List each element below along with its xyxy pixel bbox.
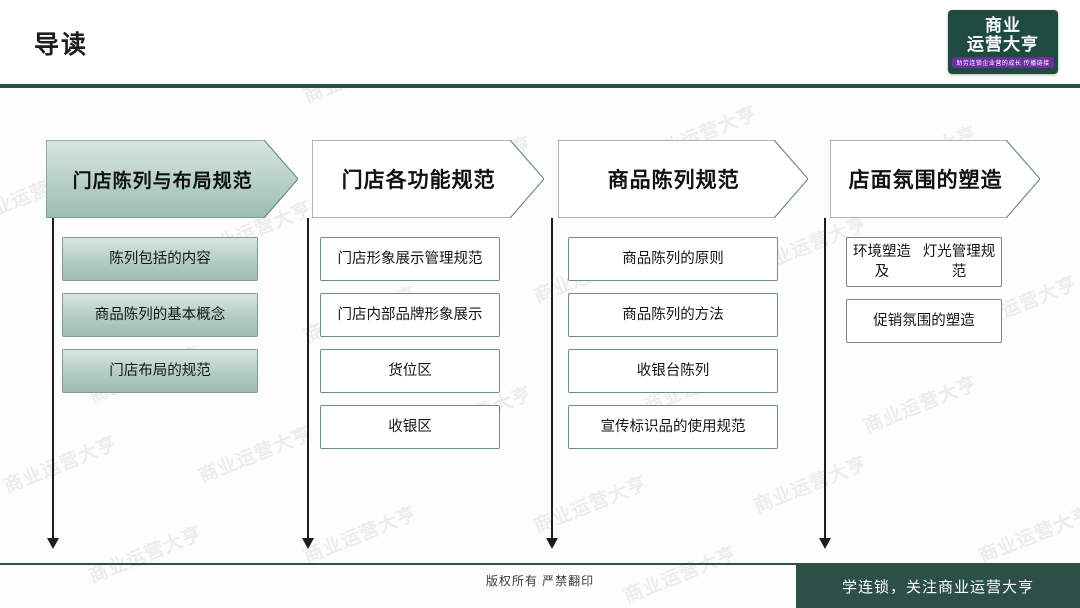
column-4-item-1[interactable]: 环境塑造及灯光管理规范 bbox=[846, 237, 1002, 287]
header-divider bbox=[0, 84, 1080, 88]
column-connector-3 bbox=[551, 218, 553, 538]
item-text-line: 陈列包括的内容 bbox=[109, 249, 211, 269]
column-1-item-3[interactable]: 门店布局的规范 bbox=[62, 349, 258, 393]
column-connector-arrow-1 bbox=[47, 538, 59, 549]
flow-column-1: 门店陈列与布局规范 bbox=[46, 140, 298, 218]
column-1-item-2[interactable]: 商品陈列的基本概念 bbox=[62, 293, 258, 337]
column-connector-2 bbox=[307, 218, 309, 538]
watermark: 商业运营大亨 bbox=[859, 369, 980, 439]
item-text-line: 商品陈列的基本概念 bbox=[95, 305, 226, 325]
slide: 商业运营大亨商业运营大亨商业运营大亨商业运营大亨商业运营大亨商业运营大亨商业运营… bbox=[0, 0, 1080, 608]
item-text-line: 环境塑造及 bbox=[847, 242, 917, 282]
column-2-item-3[interactable]: 货位区 bbox=[320, 349, 500, 393]
column-3-item-4[interactable]: 宣传标识品的使用规范 bbox=[568, 405, 778, 449]
column-heading-label-3: 商品陈列规范 bbox=[558, 164, 808, 194]
slide-header: 导读 商业 运营大亨 助劳连锁企业营的成长 传播链接 bbox=[0, 0, 1080, 84]
watermark: 商业运营大亨 bbox=[0, 429, 121, 499]
column-connector-arrow-3 bbox=[546, 538, 558, 549]
item-text-line: 宣传标识品的使用规范 bbox=[601, 417, 746, 437]
item-text-line: 商品陈列的原则 bbox=[622, 249, 724, 269]
column-3-item-2[interactable]: 商品陈列的方法 bbox=[568, 293, 778, 337]
item-text-line: 商品陈列的方法 bbox=[622, 305, 724, 325]
column-heading-3[interactable]: 商品陈列规范 bbox=[558, 140, 808, 218]
flow-column-3: 商品陈列规范 bbox=[558, 140, 808, 218]
column-2-item-4[interactable]: 收银区 bbox=[320, 405, 500, 449]
brand-logo: 商业 运营大亨 助劳连锁企业营的成长 传播链接 bbox=[948, 10, 1058, 74]
column-3-item-3[interactable]: 收银台陈列 bbox=[568, 349, 778, 393]
column-heading-2[interactable]: 门店各功能规范 bbox=[312, 140, 544, 218]
column-2-item-1[interactable]: 门店形象展示管理规范 bbox=[320, 237, 500, 281]
column-4-item-2[interactable]: 促销氛围的塑造 bbox=[846, 299, 1002, 343]
column-heading-1[interactable]: 门店陈列与布局规范 bbox=[46, 140, 298, 218]
item-text-line: 灯光管理规范 bbox=[917, 242, 1001, 282]
column-heading-label-4: 店面氛围的塑造 bbox=[830, 164, 1040, 194]
item-text-line: 货位区 bbox=[388, 361, 432, 381]
column-1-item-1[interactable]: 陈列包括的内容 bbox=[62, 237, 258, 281]
logo-line-2: 运营大亨 bbox=[967, 35, 1039, 54]
column-connector-4 bbox=[824, 218, 826, 538]
flow-column-2: 门店各功能规范 bbox=[312, 140, 544, 218]
item-text-line: 促销氛围的塑造 bbox=[873, 311, 975, 331]
item-text-line: 门店内部品牌形象展示 bbox=[338, 305, 483, 325]
watermark: 商业运营大亨 bbox=[974, 499, 1080, 569]
column-2-item-2[interactable]: 门店内部品牌形象展示 bbox=[320, 293, 500, 337]
watermark: 商业运营大亨 bbox=[194, 419, 315, 489]
footer-brand-tag: 学连锁，关注商业运营大亨 bbox=[796, 565, 1080, 608]
logo-tagline: 助劳连锁企业营的成长 传播链接 bbox=[952, 57, 1053, 68]
watermark: 商业运营大亨 bbox=[749, 449, 870, 519]
column-connector-1 bbox=[52, 218, 54, 538]
item-text-line: 收银台陈列 bbox=[637, 361, 710, 381]
watermark: 商业运营大亨 bbox=[529, 469, 650, 539]
column-heading-label-2: 门店各功能规范 bbox=[312, 164, 544, 194]
item-text-line: 门店形象展示管理规范 bbox=[338, 249, 483, 269]
column-3-item-1[interactable]: 商品陈列的原则 bbox=[568, 237, 778, 281]
column-heading-label-1: 门店陈列与布局规范 bbox=[46, 166, 298, 193]
logo-line-1: 商业 bbox=[985, 16, 1021, 35]
flow-column-4: 店面氛围的塑造 bbox=[830, 140, 1040, 218]
column-heading-4[interactable]: 店面氛围的塑造 bbox=[830, 140, 1040, 218]
column-connector-arrow-4 bbox=[819, 538, 831, 549]
item-text-line: 收银区 bbox=[388, 417, 432, 437]
item-text-line: 门店布局的规范 bbox=[109, 361, 211, 381]
page-title: 导读 bbox=[34, 25, 88, 61]
column-connector-arrow-2 bbox=[302, 538, 314, 549]
watermark: 商业运营大亨 bbox=[299, 499, 420, 569]
